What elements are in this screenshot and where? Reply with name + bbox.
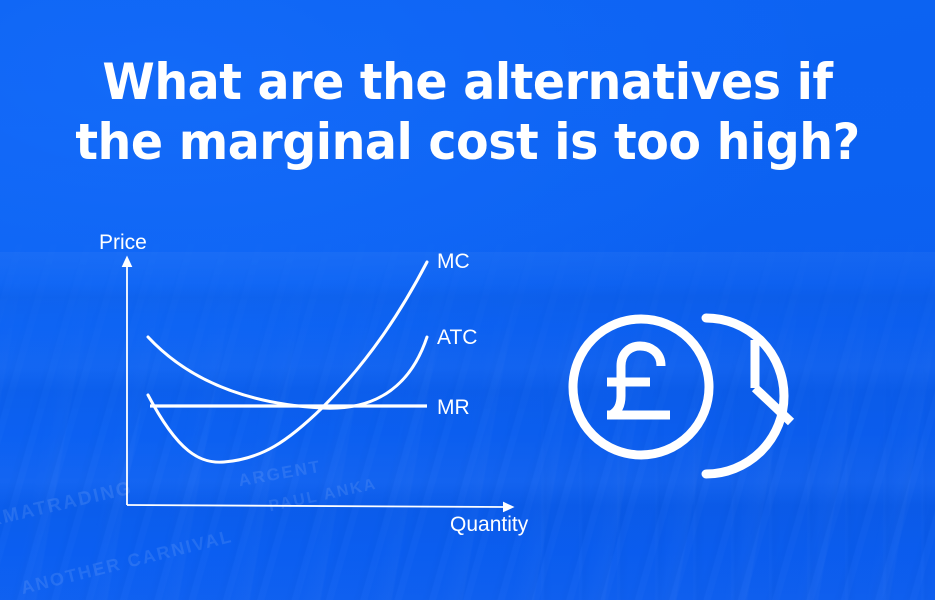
series-label-mc: MC: [437, 251, 470, 272]
infographic-canvas: RMATRADING ARGENT PAUL ANKA ANOTHER CARN…: [0, 0, 935, 600]
clock-circle: [706, 318, 784, 474]
pound-circle: [573, 319, 709, 455]
series-curve-mc: [148, 262, 427, 462]
y-axis-label: Price: [99, 232, 147, 253]
icon-svg: [560, 296, 860, 496]
series-label-atc: ATC: [437, 327, 477, 348]
series-label-mr: MR: [437, 397, 470, 418]
x-axis: [127, 505, 505, 507]
series-curve-atc: [148, 337, 427, 408]
pound-symbol-icon: [607, 346, 670, 415]
pound-coin-and-clock-icon: [560, 296, 860, 501]
x-axis-label: Quantity: [450, 514, 528, 535]
